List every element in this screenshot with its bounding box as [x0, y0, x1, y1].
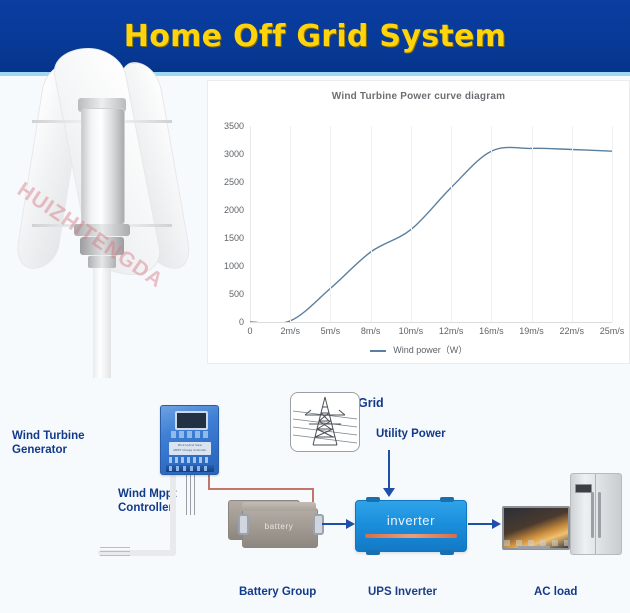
chart-grid-line	[532, 126, 533, 322]
cable-strand-1	[100, 547, 130, 548]
turbine-bearing-mid	[80, 237, 124, 255]
arrow-battery-to-inverter-line	[322, 523, 348, 525]
chart-x-tick: 19m/s	[519, 326, 544, 336]
chart-x-tick: 16m/s	[479, 326, 504, 336]
cable-strand-4	[186, 473, 187, 515]
chart-x-tick: 22m/s	[560, 326, 585, 336]
chart-y-tick: 500	[229, 289, 244, 299]
chart-grid-line	[411, 126, 412, 322]
controller-nameplate-line2: MPPT Charge Controller	[169, 449, 211, 452]
controller-terminal-block	[166, 465, 214, 472]
chart-plot-area: 050010001500200025003000350002m/s5m/s8m/…	[250, 126, 612, 322]
tv-stand	[518, 546, 550, 549]
battery-label: battery	[242, 522, 316, 531]
chart-series-wind-power	[250, 126, 612, 322]
chart-grid-line	[612, 126, 613, 322]
grid-tower-box	[290, 392, 360, 452]
wire-controller-to-battery-h	[208, 488, 314, 490]
controller-nameplate: Wind Hybrid Solar MPPT Charge Controller	[169, 442, 211, 455]
arrow-inverter-to-load-line	[468, 523, 494, 525]
chart-y-tick: 1000	[224, 261, 244, 271]
chart-grid-line	[371, 126, 372, 322]
label-wind-mppt-controller: Wind Mppt Controller	[118, 488, 177, 515]
chart-grid-line	[572, 126, 573, 322]
chart-y-tick: 3500	[224, 121, 244, 131]
turbine-generator-hub	[81, 108, 125, 225]
label-ups-inverter: UPS Inverter	[368, 586, 437, 600]
controller-status-icons	[169, 457, 211, 463]
inverter-label: inverter	[356, 513, 466, 528]
terminal-pin	[176, 466, 179, 471]
chart-x-tick: 8m/s	[361, 326, 381, 336]
fridge-control-panel	[575, 484, 592, 493]
battery-group-device[interactable]: battery	[228, 498, 323, 546]
controller-buttons[interactable]	[171, 431, 209, 438]
controller-nameplate-line1: Wind Hybrid Solar	[169, 444, 211, 447]
inverter-vent-stripe	[365, 534, 457, 538]
battery-handle-left	[238, 514, 249, 535]
chart-y-tick: 2000	[224, 205, 244, 215]
ups-inverter-device[interactable]: inverter	[355, 500, 467, 552]
chart-grid-line	[491, 126, 492, 322]
cable-strand-2	[100, 551, 130, 552]
label-grid: Grid	[358, 396, 384, 411]
page-root: Home Off Grid System HUIZHITENGDA Wind T…	[0, 0, 630, 613]
inverter-mount-tl	[366, 497, 380, 502]
label-ac-load: AC load	[534, 586, 577, 600]
wind-mppt-controller-device[interactable]: Wind Hybrid Solar MPPT Charge Controller	[160, 405, 219, 475]
terminal-pin	[183, 466, 186, 471]
terminal-pin	[169, 466, 172, 471]
chart-y-tick: 3000	[224, 149, 244, 159]
chart-line-path	[250, 147, 612, 322]
inverter-mount-br	[440, 550, 454, 555]
arrow-inverter-to-load-head	[492, 519, 501, 529]
chart-y-tick: 0	[239, 317, 244, 327]
chart-x-tick: 5m/s	[321, 326, 341, 336]
arrow-utility-power-head	[383, 488, 395, 497]
chart-grid-line	[290, 126, 291, 322]
arrow-battery-to-inverter-head	[346, 519, 355, 529]
chart-grid-line	[330, 126, 331, 322]
fridge-handle-left	[591, 492, 594, 538]
fridge-handle-right	[598, 492, 601, 538]
chart-x-tick: 2m/s	[280, 326, 300, 336]
system-diagram: Wind Turbine Generator Wind Mppt Control…	[0, 378, 630, 613]
cable-strand-6	[194, 473, 195, 515]
arrow-utility-power-line	[388, 450, 390, 490]
inverter-mount-bl	[366, 550, 380, 555]
chart-y-tick: 1500	[224, 233, 244, 243]
fridge-door-split	[595, 474, 596, 554]
controller-lcd-screen	[175, 411, 208, 430]
legend-label: Wind power（W）	[393, 345, 467, 355]
inverter-mount-tr	[440, 497, 454, 502]
terminal-pin	[204, 466, 207, 471]
terminal-pin	[190, 466, 193, 471]
label-battery-group: Battery Group	[239, 586, 316, 600]
vertical-axis-turbine-illustration: HUIZHITENGDA	[8, 28, 193, 328]
label-utility-power: Utility Power	[376, 428, 446, 442]
refrigerator-appliance	[570, 473, 622, 555]
chart-x-axis	[250, 322, 612, 323]
cable-strand-3	[100, 555, 130, 556]
chart-title: Wind Turbine Power curve diagram	[208, 91, 629, 102]
terminal-pin	[197, 466, 200, 471]
chart-x-tick: 0	[247, 326, 252, 336]
chart-x-tick: 25m/s	[600, 326, 625, 336]
label-wind-turbine-generator: Wind Turbine Generator	[12, 430, 85, 457]
chart-x-tick: 10m/s	[399, 326, 424, 336]
turbine-bearing-lower	[88, 256, 116, 268]
chart-legend: Wind power（W）	[208, 343, 629, 356]
cable-turbine-vertical	[170, 473, 176, 555]
chart-grid-line	[451, 126, 452, 322]
chart-y-tick: 2500	[224, 177, 244, 187]
cable-strand-5	[190, 473, 191, 515]
legend-color-swatch	[370, 350, 386, 352]
power-curve-chart-panel: Wind Turbine Power curve diagram 0500100…	[207, 80, 630, 364]
chart-x-tick: 12m/s	[439, 326, 464, 336]
tv-appliance	[502, 506, 570, 550]
battery-top-cover	[242, 502, 316, 511]
transmission-tower-icon	[291, 393, 359, 451]
turbine-bearing-upper	[74, 224, 130, 236]
